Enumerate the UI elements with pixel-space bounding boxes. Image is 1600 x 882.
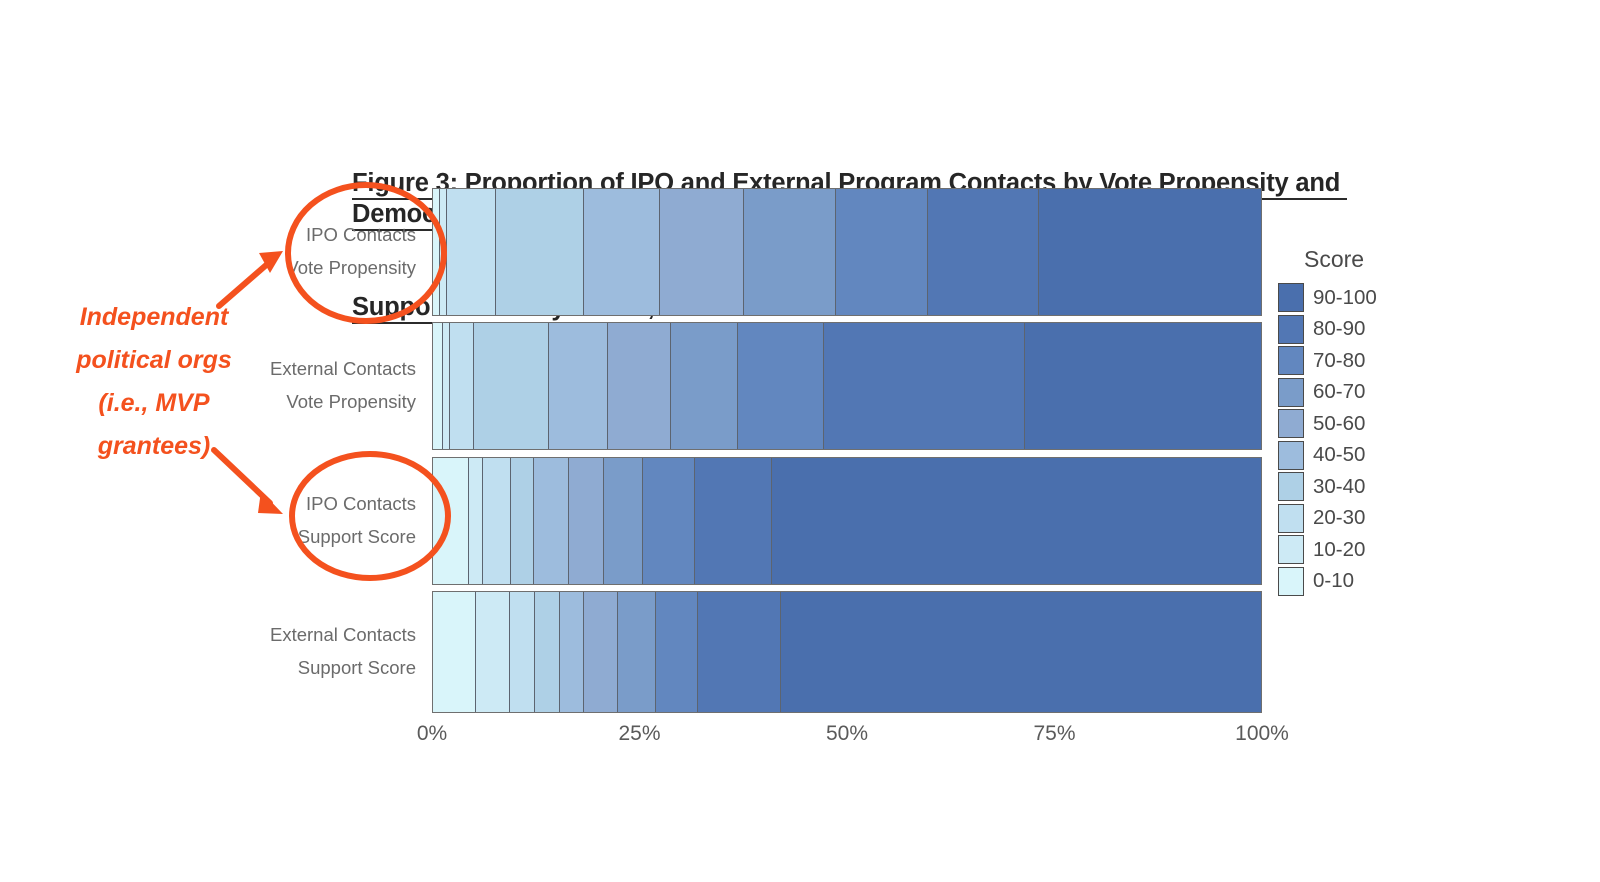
bar-segment-40-50[interactable]: [560, 592, 585, 712]
bar-segment-40-50[interactable]: [549, 323, 609, 449]
legend-item[interactable]: 10-20: [1278, 534, 1377, 566]
bar-segment-70-80[interactable]: [643, 458, 694, 584]
bar-segment-90-100[interactable]: [772, 458, 1261, 584]
legend-item[interactable]: 0-10: [1278, 566, 1377, 598]
x-axis-tick: 0%: [417, 722, 447, 746]
bar-segment-30-40[interactable]: [474, 323, 549, 449]
bar-segment-60-70[interactable]: [671, 323, 738, 449]
legend-label: 0-10: [1313, 569, 1354, 593]
legend-item[interactable]: 50-60: [1278, 408, 1377, 440]
legend-item[interactable]: 60-70: [1278, 377, 1377, 409]
bar-segment-50-60[interactable]: [584, 592, 617, 712]
bar-segment-50-60[interactable]: [608, 323, 671, 449]
bar-segment-80-90[interactable]: [824, 323, 1025, 449]
legend: Score 90-10080-9070-8060-7050-6040-5030-…: [1278, 246, 1377, 597]
annotation-line-3: (i.e., MVP: [24, 382, 284, 425]
y-label-line-1: IPO Contacts: [186, 218, 416, 251]
legend-swatch: [1278, 378, 1304, 407]
legend-label: 40-50: [1313, 443, 1365, 467]
bar-segment-70-80[interactable]: [836, 189, 928, 315]
bar-segment-10-20[interactable]: [476, 592, 510, 712]
y-label-line-1: External Contacts: [186, 618, 416, 651]
bar-segment-80-90[interactable]: [928, 189, 1039, 315]
y-label-line-2: Support Score: [186, 651, 416, 684]
legend-label: 30-40: [1313, 475, 1365, 499]
legend-label: 10-20: [1313, 538, 1365, 562]
bar-segment-80-90[interactable]: [695, 458, 772, 584]
bar-segment-30-40[interactable]: [535, 592, 560, 712]
legend-label: 60-70: [1313, 380, 1365, 404]
legend-swatch: [1278, 315, 1304, 344]
bar-track: [432, 457, 1262, 585]
annotation-line-4: grantees): [24, 425, 284, 468]
legend-item[interactable]: 20-30: [1278, 503, 1377, 535]
legend-label: 20-30: [1313, 506, 1365, 530]
bar-segment-60-70[interactable]: [618, 592, 656, 712]
bar-segment-40-50[interactable]: [584, 189, 660, 315]
legend-title: Score: [1304, 246, 1377, 273]
x-axis: 0%25%50%75%100%: [432, 722, 1262, 756]
bar-segment-0-10[interactable]: [433, 189, 440, 315]
y-axis-label-ipo-contacts-vote-propensity: IPO ContactsVote Propensity: [186, 218, 416, 284]
bar-segment-70-80[interactable]: [656, 592, 698, 712]
legend-label: 90-100: [1313, 286, 1377, 310]
bar-track: [432, 322, 1262, 450]
bar-segment-20-30[interactable]: [510, 592, 535, 712]
figure-root: Figure 3: Proportion of IPO and External…: [0, 0, 1600, 882]
bar-segment-20-30[interactable]: [447, 189, 496, 315]
stacked-bar-ipo-contacts-vote-propensity[interactable]: [432, 188, 1262, 316]
annotation-line-2: political orgs: [24, 339, 284, 382]
bar-segment-0-10[interactable]: [433, 458, 469, 584]
legend-swatch: [1278, 283, 1304, 312]
bar-segment-10-20[interactable]: [443, 323, 450, 449]
legend-items: 90-10080-9070-8060-7050-6040-5030-4020-3…: [1278, 282, 1377, 597]
bar-track: [432, 188, 1262, 316]
y-label-line-2: Vote Propensity: [186, 251, 416, 284]
legend-swatch: [1278, 567, 1304, 596]
legend-item[interactable]: 90-100: [1278, 282, 1377, 314]
x-axis-tick: 25%: [618, 722, 660, 746]
legend-label: 70-80: [1313, 349, 1365, 373]
legend-swatch: [1278, 409, 1304, 438]
x-axis-tick: 75%: [1033, 722, 1075, 746]
legend-label: 50-60: [1313, 412, 1365, 436]
legend-swatch: [1278, 504, 1304, 533]
legend-label: 80-90: [1313, 317, 1365, 341]
bar-segment-60-70[interactable]: [744, 189, 836, 315]
plot-area: [432, 188, 1262, 713]
bar-segment-30-40[interactable]: [496, 189, 584, 315]
bar-segment-80-90[interactable]: [698, 592, 781, 712]
bar-segment-90-100[interactable]: [781, 592, 1261, 712]
bar-segment-90-100[interactable]: [1039, 189, 1261, 315]
bar-segment-10-20[interactable]: [469, 458, 484, 584]
x-axis-tick: 50%: [826, 722, 868, 746]
bar-segment-20-30[interactable]: [483, 458, 510, 584]
legend-item[interactable]: 80-90: [1278, 314, 1377, 346]
x-axis-tick: 100%: [1235, 722, 1289, 746]
bar-segment-30-40[interactable]: [511, 458, 534, 584]
legend-item[interactable]: 30-40: [1278, 471, 1377, 503]
y-label-line-1: IPO Contacts: [186, 487, 416, 520]
bar-segment-0-10[interactable]: [433, 323, 443, 449]
bar-segment-0-10[interactable]: [433, 592, 476, 712]
y-label-line-2: Support Score: [186, 520, 416, 553]
bar-segment-50-60[interactable]: [660, 189, 744, 315]
bar-segment-50-60[interactable]: [569, 458, 604, 584]
bar-segment-70-80[interactable]: [738, 323, 823, 449]
bar-segment-60-70[interactable]: [604, 458, 644, 584]
y-axis-label-external-contacts-support-score: External ContactsSupport Score: [186, 618, 416, 684]
legend-swatch: [1278, 472, 1304, 501]
stacked-bar-ipo-contacts-support-score[interactable]: [432, 457, 1262, 585]
y-axis-label-ipo-contacts-support-score: IPO ContactsSupport Score: [186, 487, 416, 553]
legend-swatch: [1278, 441, 1304, 470]
bar-segment-40-50[interactable]: [534, 458, 569, 584]
legend-swatch: [1278, 535, 1304, 564]
bar-segment-90-100[interactable]: [1025, 323, 1261, 449]
legend-item[interactable]: 70-80: [1278, 345, 1377, 377]
annotation-independent-political-orgs: Independent political orgs (i.e., MVP gr…: [24, 296, 284, 468]
bar-track: [432, 591, 1262, 713]
legend-swatch: [1278, 346, 1304, 375]
legend-item[interactable]: 40-50: [1278, 440, 1377, 472]
stacked-bar-external-contacts-support-score[interactable]: [432, 591, 1262, 713]
stacked-bar-external-contacts-vote-propensity[interactable]: [432, 322, 1262, 450]
annotation-line-1: Independent: [24, 296, 284, 339]
bar-segment-20-30[interactable]: [450, 323, 475, 449]
bar-segment-10-20[interactable]: [440, 189, 447, 315]
